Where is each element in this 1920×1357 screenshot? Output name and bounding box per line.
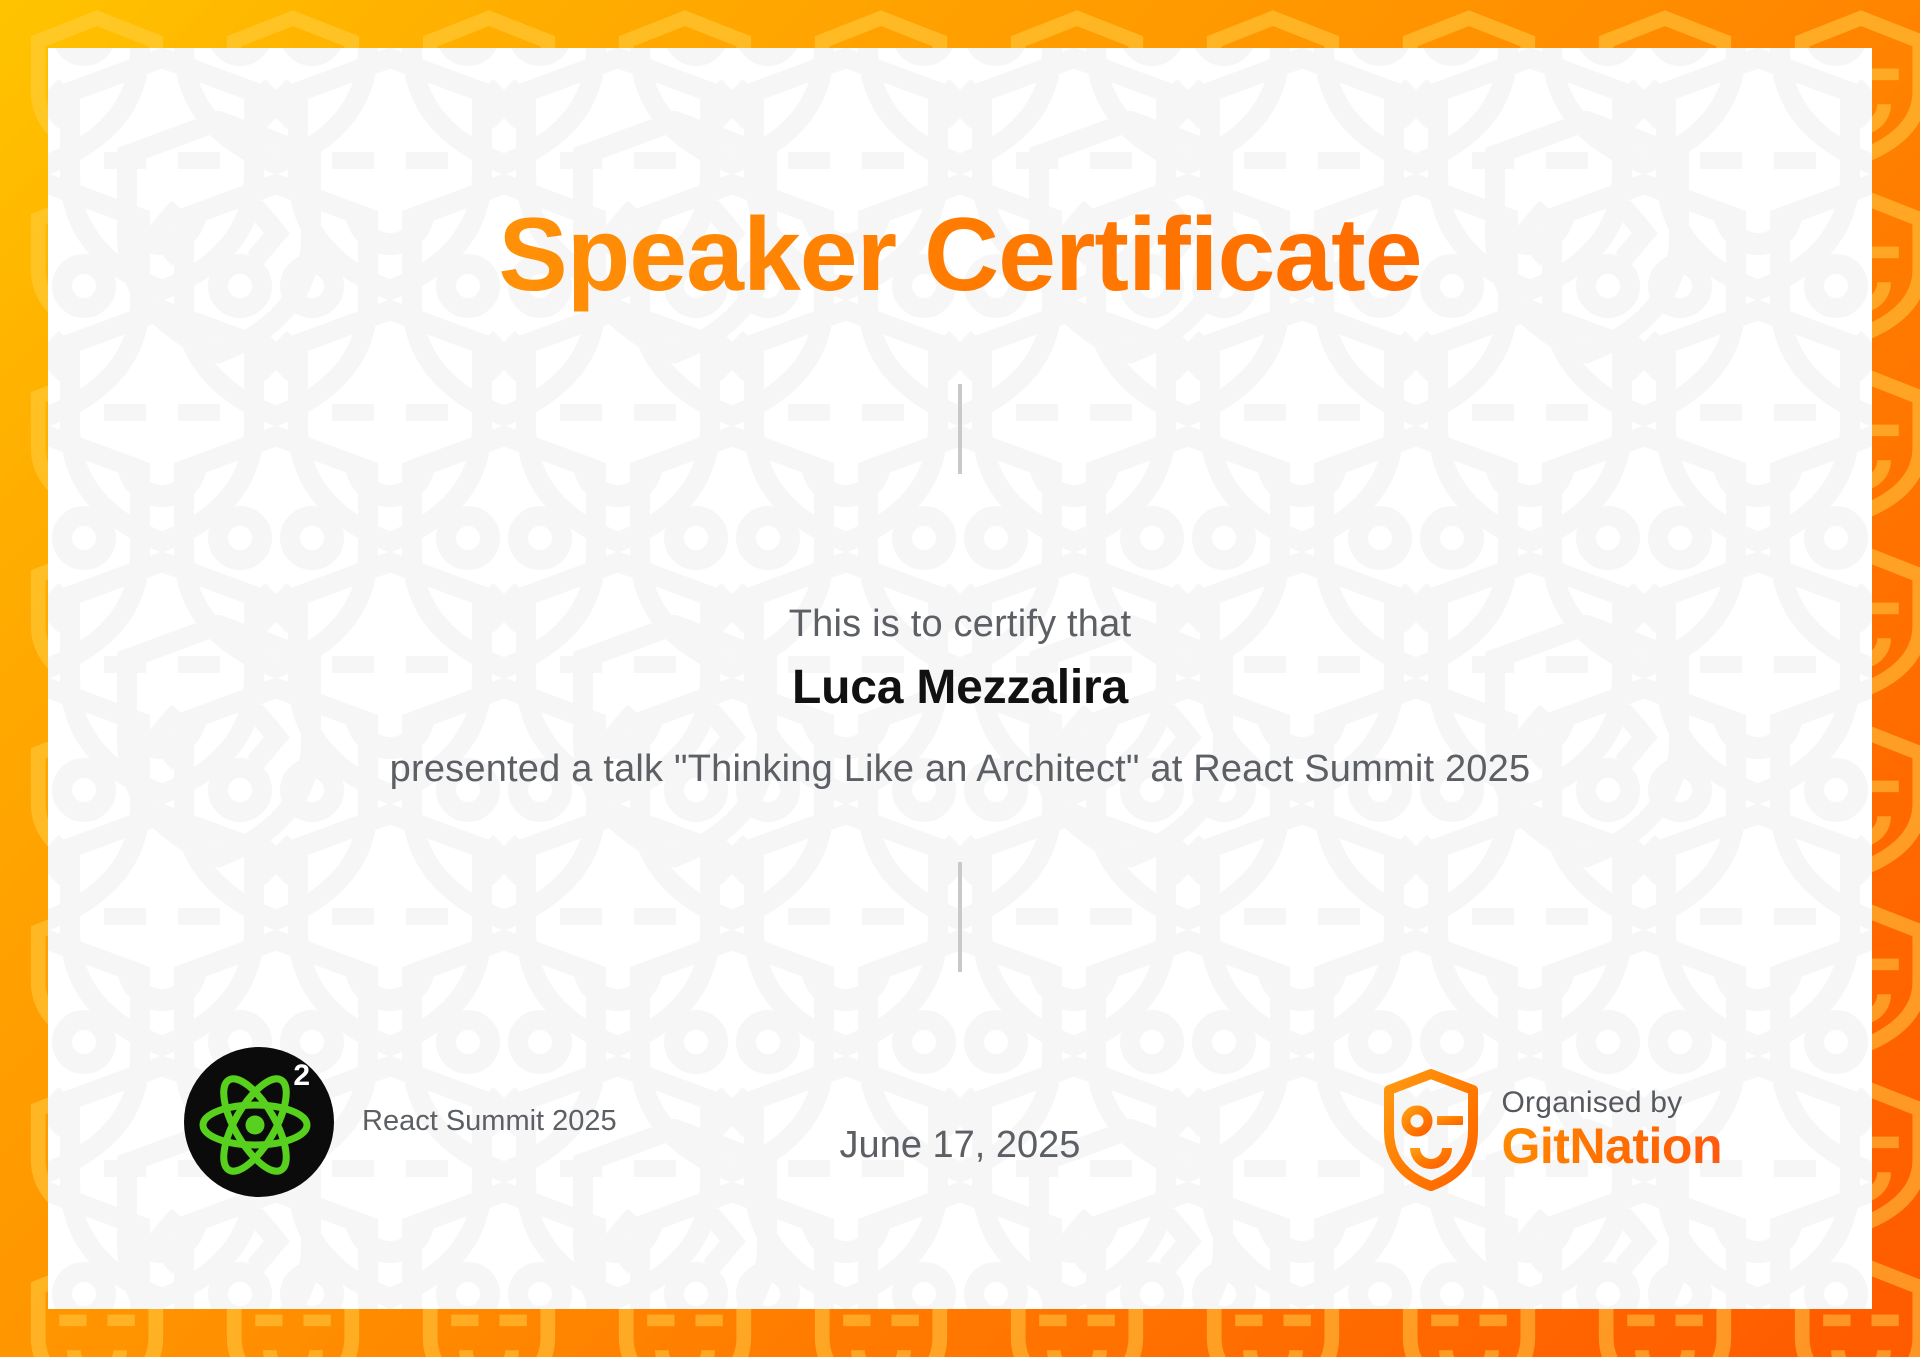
organiser-prefix: Organised by (1502, 1087, 1722, 1119)
certificate-footer: 2 React Summit 2025 June 17, 2025 (48, 1047, 1872, 1197)
issue-date: June 17, 2025 (840, 1124, 1081, 1167)
certificate-root: Speaker Certificate This is to certify t… (0, 0, 1920, 1357)
react-badge-superscript: 2 (293, 1061, 310, 1091)
talk-description: presented a talk "Thinking Like an Archi… (48, 748, 1872, 791)
event-badge-label: React Summit 2025 (362, 1105, 617, 1140)
certify-line: This is to certify that (48, 603, 1872, 646)
react-atom-icon: 2 (184, 1047, 334, 1197)
organiser-block: Organised by GitNation (1382, 1069, 1722, 1191)
gitnation-shield-mask-icon (1382, 1069, 1480, 1191)
event-badge: 2 React Summit 2025 (184, 1047, 617, 1197)
divider-bottom (958, 862, 962, 972)
divider-top (958, 384, 962, 474)
recipient-name: Luca Mezzalira (48, 660, 1872, 715)
page-title: Speaker Certificate (48, 198, 1872, 312)
organiser-name: GitNation (1502, 1119, 1722, 1173)
certificate-card: Speaker Certificate This is to certify t… (48, 48, 1872, 1309)
